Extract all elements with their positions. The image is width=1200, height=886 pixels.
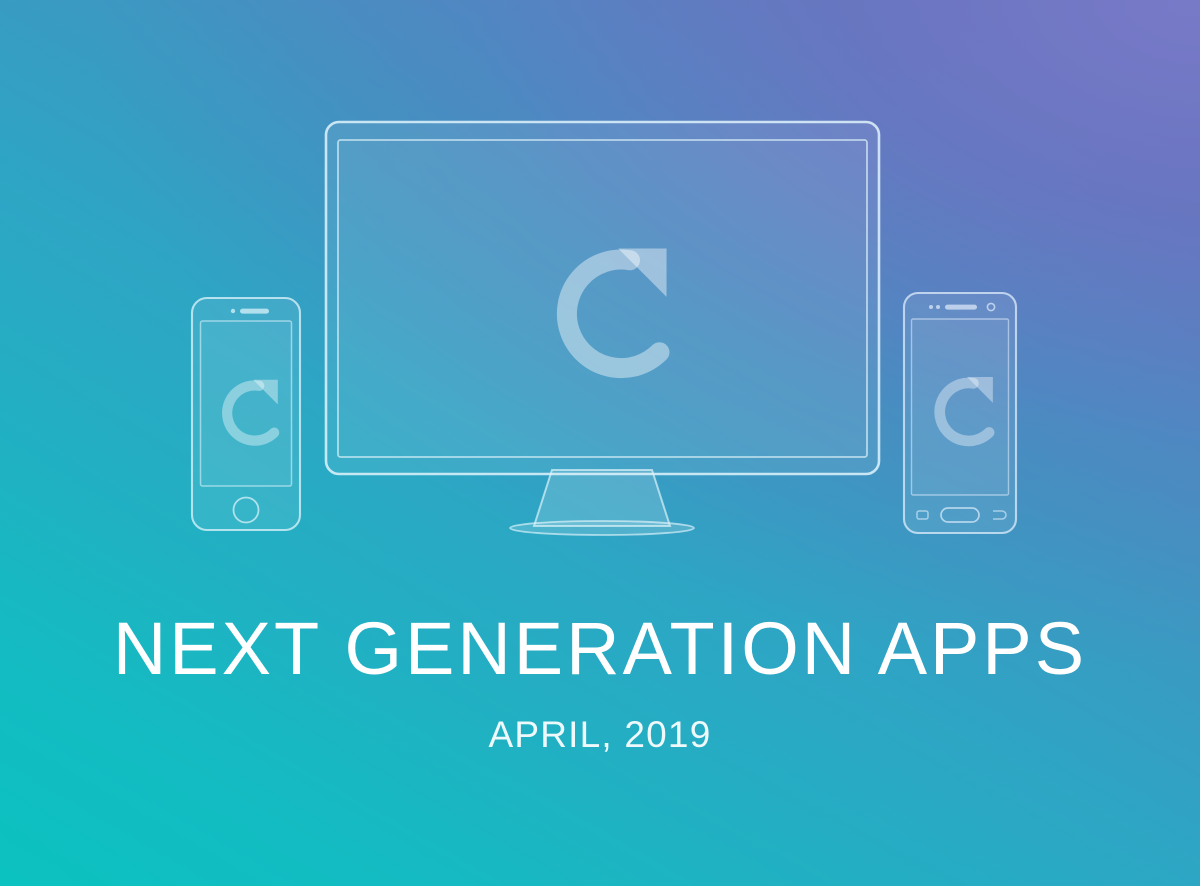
monitor (326, 122, 879, 535)
caption-block: NEXT GENERATION APPS APRIL, 2019 (0, 612, 1200, 753)
page-subtitle: APRIL, 2019 (0, 716, 1200, 753)
sensor-dot-icon (929, 305, 933, 309)
sensor-dot-icon (936, 305, 940, 309)
stand-neck (534, 470, 670, 526)
monitor-screen (338, 140, 867, 457)
phone-right (904, 293, 1016, 533)
earpiece-speaker-icon (945, 305, 977, 310)
page-title: NEXT GENERATION APPS (0, 612, 1200, 686)
phone-right-screen (912, 319, 1009, 495)
phone-left (192, 298, 300, 530)
earpiece-speaker-icon (240, 309, 269, 314)
device-illustration-group (0, 0, 1200, 600)
slide-canvas: NEXT GENERATION APPS APRIL, 2019 (0, 0, 1200, 886)
front-camera-dot-icon (231, 309, 235, 313)
phone-left-screen (201, 321, 292, 486)
